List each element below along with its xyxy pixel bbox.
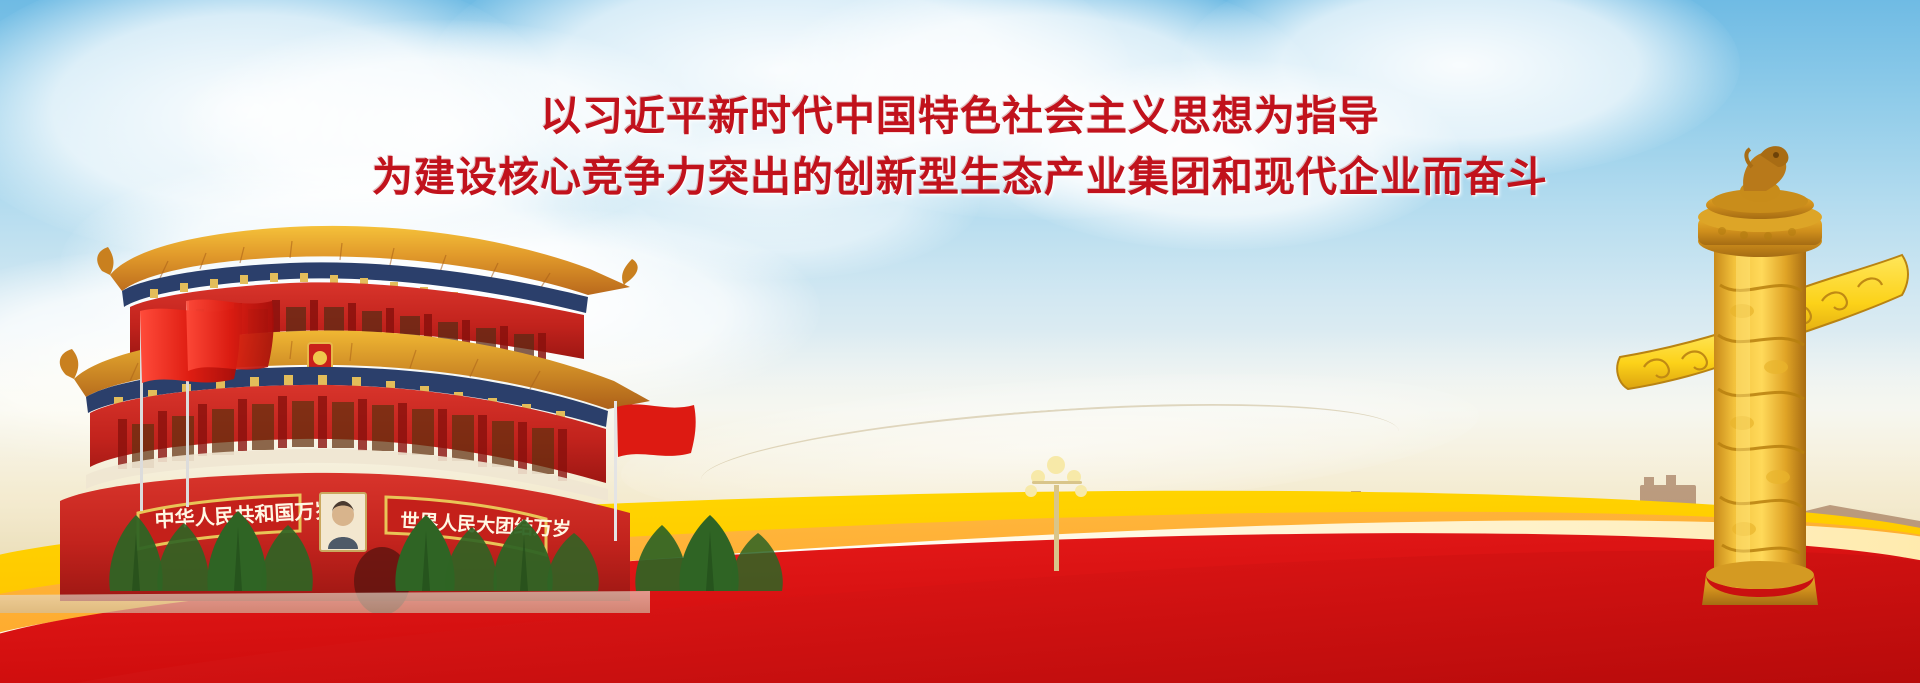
title-line-1: 以习近平新时代中国特色社会主义思想为指导: [0, 92, 1920, 140]
huabiao-base: [1702, 561, 1818, 605]
plaza-lamp-post: [1022, 451, 1092, 571]
banner-title: 以习近平新时代中国特色社会主义思想为指导 为建设核心竞争力突出的创新型生态产业集…: [0, 92, 1920, 202]
title-line-2: 为建设核心竞争力突出的创新型生态产业集团和现代企业而奋斗: [0, 153, 1920, 201]
huabiao-shaft: [1714, 245, 1806, 589]
hero-banner: 中华人民共和国万岁 世界人民大团结万岁: [0, 0, 1920, 683]
plaza-shrubs: [80, 461, 1080, 591]
